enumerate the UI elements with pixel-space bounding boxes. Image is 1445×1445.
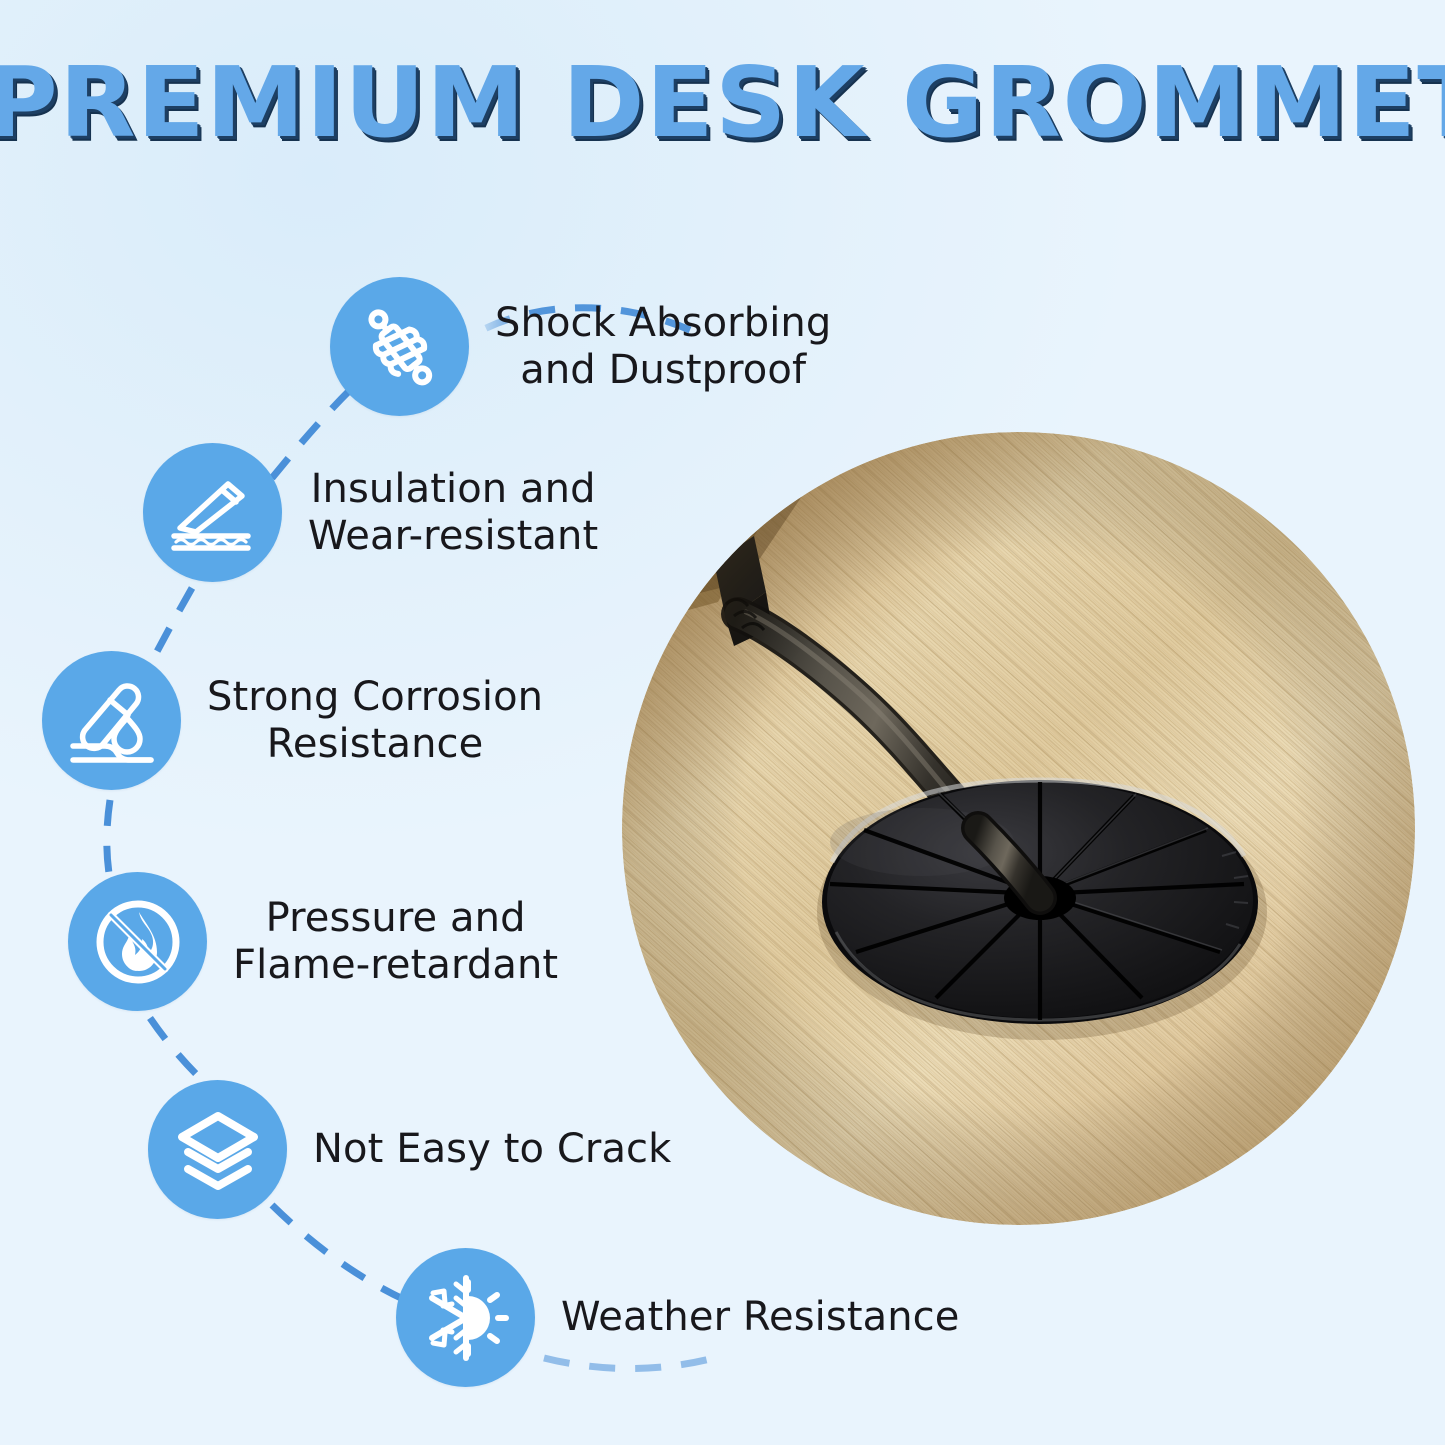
- feature-corrosion-resistance[interactable]: Strong Corrosion Resistance: [42, 651, 543, 790]
- desk-grommet-illustration: [622, 432, 1415, 1225]
- feature-flame-retardant[interactable]: Pressure and Flame-retardant: [68, 872, 558, 1011]
- feature-label: Weather Resistance: [561, 1294, 959, 1340]
- feature-crack-resistant[interactable]: Not Easy to Crack: [148, 1080, 671, 1219]
- page-title-container: PREMIUM DESK GROMMET: [0, 52, 1445, 154]
- blade-on-layered-surface-icon: [143, 443, 282, 582]
- feature-shock-absorbing[interactable]: Shock Absorbing and Dustproof: [330, 277, 831, 416]
- product-photo: [622, 432, 1415, 1225]
- feature-label: Strong Corrosion Resistance: [207, 674, 543, 767]
- feature-label: Insulation and Wear-resistant: [308, 466, 598, 559]
- feature-weather-resistance[interactable]: Weather Resistance: [396, 1248, 959, 1387]
- feature-label: Shock Absorbing and Dustproof: [495, 300, 831, 393]
- feature-label: Not Easy to Crack: [313, 1126, 671, 1172]
- stacked-layers-icon: [148, 1080, 287, 1219]
- shock-absorber-spring-icon: [330, 277, 469, 416]
- test-tube-droplet-icon: [42, 651, 181, 790]
- feature-label: Pressure and Flame-retardant: [233, 895, 558, 988]
- feature-insulation[interactable]: Insulation and Wear-resistant: [143, 443, 598, 582]
- page-title: PREMIUM DESK GROMMET: [0, 52, 1445, 154]
- snowflake-sun-icon: [396, 1248, 535, 1387]
- infographic-canvas: PREMIUM DESK GROMMET: [0, 0, 1445, 1445]
- no-flame-icon: [68, 872, 207, 1011]
